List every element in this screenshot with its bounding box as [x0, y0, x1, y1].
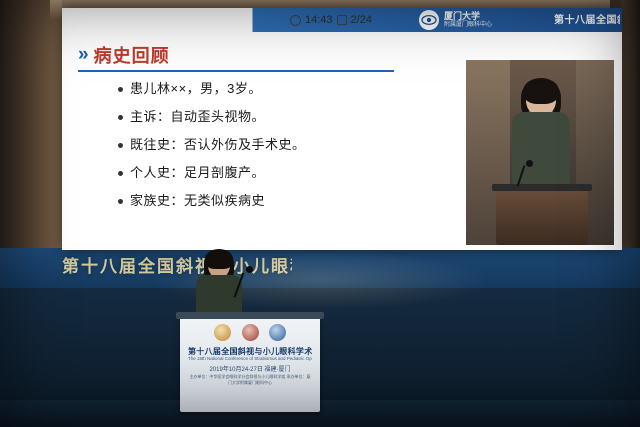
chevron-right-icon: »: [78, 44, 86, 66]
bullet-text: 患儿林××，男，3岁。: [130, 80, 262, 97]
gold-emblem-icon: [214, 324, 231, 341]
stage-floor: [0, 400, 640, 427]
bullet-text: 个人史：足月剖腹产。: [130, 164, 265, 181]
photo-podium-top: [492, 184, 592, 191]
list-item: 既往史：否认外伤及手术史。: [118, 136, 418, 153]
bullet-dot-icon: [118, 115, 123, 120]
photo-scene: 第十八届全国斜视与小儿眼科学术会议 14:43 2/24 厦门大学 附属厦门眼科…: [0, 0, 640, 427]
list-item: 主诉：自动歪头视物。: [118, 108, 418, 125]
podium-top-surface: [176, 312, 324, 319]
slide-bullet-list: 患儿林××，男，3岁。 主诉：自动歪头视物。 既往史：否认外伤及手术史。 个人史…: [118, 80, 418, 220]
bullet-dot-icon: [118, 87, 123, 92]
bullet-text: 既往史：否认外伤及手术史。: [130, 136, 306, 153]
podium-conference-title-en: The 18th National Conference of Strabism…: [188, 356, 312, 361]
slide-status-bar: 14:43 2/24: [290, 12, 372, 28]
podium-emblem-row: [214, 322, 286, 342]
slide-speaker-photo: [466, 60, 614, 245]
photo-microphone-head-icon: [526, 160, 533, 167]
slide-page-number: 2/24: [351, 14, 372, 26]
university-subtitle: 附属厦门眼科中心: [444, 21, 492, 29]
stage-speaker-hair: [205, 249, 233, 269]
page-icon: [337, 15, 347, 25]
xiamen-university-logo-icon: [419, 10, 439, 30]
podium-organizers: 主办单位：中华医学会眼科学分会斜视与小儿眼科学组 承办单位：厦门大学附属厦门眼科…: [188, 374, 312, 386]
university-branding: 厦门大学 附属厦门眼科中心: [419, 10, 492, 30]
slide-title: 病史回顾: [94, 42, 170, 68]
stage-microphone-head-icon: [246, 266, 253, 273]
slide-title-row: » 病史回顾: [78, 42, 170, 68]
stage-banner-text: 第十八届全国斜视与小儿眼科学术会议: [62, 252, 292, 278]
wall-right-edge: [622, 0, 640, 250]
photo-speaker-hair: [523, 78, 559, 104]
slide-content: » 病史回顾 患儿林××，男，3岁。 主诉：自动歪头视物。 既往史：否认外伤及手…: [62, 32, 622, 250]
list-item: 个人史：足月剖腹产。: [118, 164, 418, 181]
slide-time: 14:43: [305, 14, 333, 26]
red-emblem-icon: [242, 324, 259, 341]
bullet-text: 主诉：自动歪头视物。: [130, 108, 265, 125]
bullet-dot-icon: [118, 171, 123, 176]
podium-date-location: 2019年10月24-27日 福建·厦门: [188, 364, 312, 373]
clock-icon: [290, 15, 301, 26]
blue-emblem-icon: [269, 324, 286, 341]
photo-podium: [496, 187, 588, 245]
university-name: 厦门大学: [444, 11, 492, 21]
list-item: 家族史：无类似疾病史: [118, 192, 418, 209]
title-underline: [78, 70, 394, 72]
bullet-text: 家族史：无类似疾病史: [130, 192, 265, 209]
list-item: 患儿林××，男，3岁。: [118, 80, 418, 97]
bullet-dot-icon: [118, 199, 123, 204]
conference-title: 第十八届全国斜视与小儿眼科: [554, 11, 620, 26]
wall-left-edge: [0, 0, 62, 250]
projection-screen: 14:43 2/24 厦门大学 附属厦门眼科中心 第十八届全国斜视与小儿眼科 »…: [62, 8, 622, 250]
bullet-dot-icon: [118, 143, 123, 148]
